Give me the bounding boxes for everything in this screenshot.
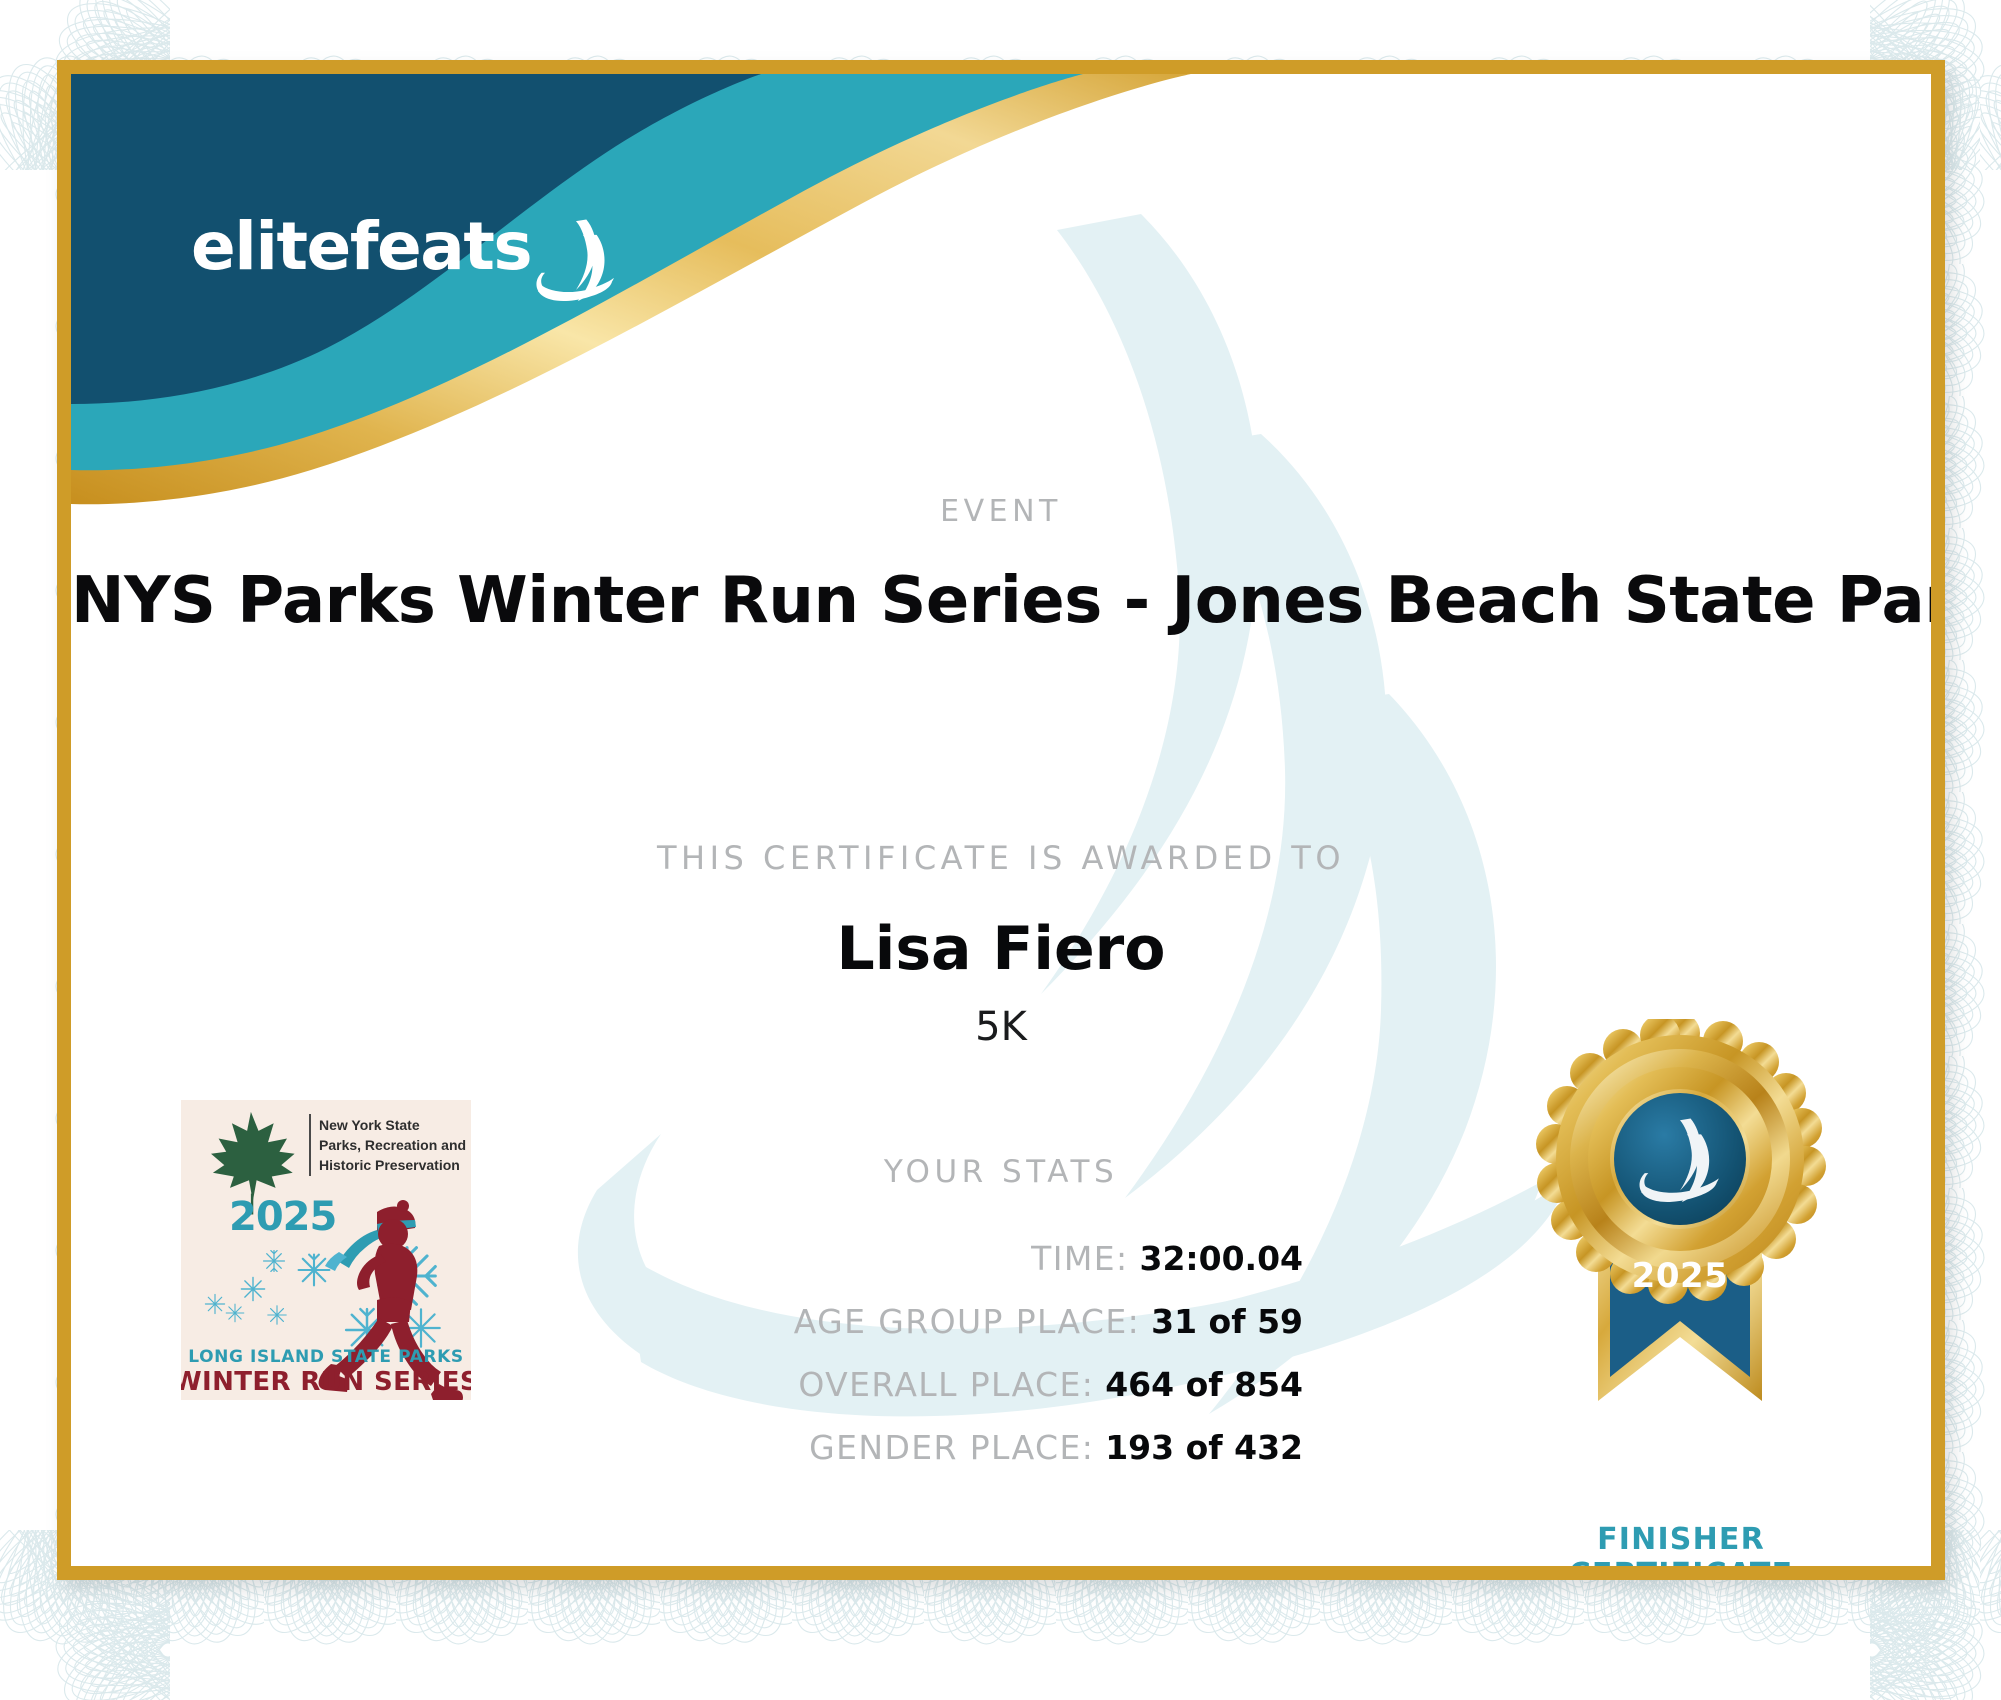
agency-line-2: Parks, Recreation and xyxy=(319,1137,466,1153)
event-series-logo: New York State Parks, Recreation and His… xyxy=(181,1100,471,1400)
winged-foot-icon xyxy=(533,216,619,302)
agency-line-3: Historic Preservation xyxy=(319,1157,460,1173)
awarded-to-kicker: THIS CERTIFICATE IS AWARDED TO xyxy=(71,839,1931,877)
stat-label: AGE GROUP PLACE: xyxy=(794,1302,1140,1341)
certificate-body: elitefeats EVENT NYS Parks Winter Run Se… xyxy=(71,74,1931,1566)
stat-label: GENDER PLACE: xyxy=(809,1428,1094,1467)
stat-label: TIME: xyxy=(1031,1239,1128,1278)
stat-value: 193 of 432 xyxy=(1105,1428,1303,1467)
certificate-card: elitefeats EVENT NYS Parks Winter Run Se… xyxy=(57,60,1945,1580)
stat-value: 31 of 59 xyxy=(1151,1302,1303,1341)
medal-year: 2025 xyxy=(1632,1256,1729,1296)
logo-year: 2025 xyxy=(229,1194,336,1240)
agency-line-1: New York State xyxy=(319,1117,420,1133)
stat-value: 32:00.04 xyxy=(1139,1239,1303,1278)
medal-caption-line-1: FINISHER xyxy=(1511,1522,1851,1557)
recipient-name: Lisa Fiero xyxy=(71,914,1931,984)
brand-name: elitefeats xyxy=(191,214,531,280)
stat-value: 464 of 854 xyxy=(1105,1365,1303,1404)
event-kicker: EVENT xyxy=(71,494,1931,529)
medal-caption-line-2: CERTIFICATE xyxy=(1511,1557,1851,1566)
series-bottom-label: WINTER RUN SERIES xyxy=(181,1367,471,1397)
finisher-medal: 2025 xyxy=(1530,1019,1830,1439)
brand-logo: elitefeats xyxy=(191,214,619,302)
series-top-label: LONG ISLAND STATE PARKS xyxy=(188,1347,463,1367)
stat-label: OVERALL PLACE: xyxy=(798,1365,1094,1404)
medal-caption: FINISHER CERTIFICATE xyxy=(1511,1522,1851,1566)
stat-row: GENDER PLACE: 193 of 432 xyxy=(71,1428,1303,1467)
event-title: NYS Parks Winter Run Series - Jones Beac… xyxy=(71,564,1931,638)
certificate-page: elitefeats EVENT NYS Parks Winter Run Se… xyxy=(0,0,2001,1700)
